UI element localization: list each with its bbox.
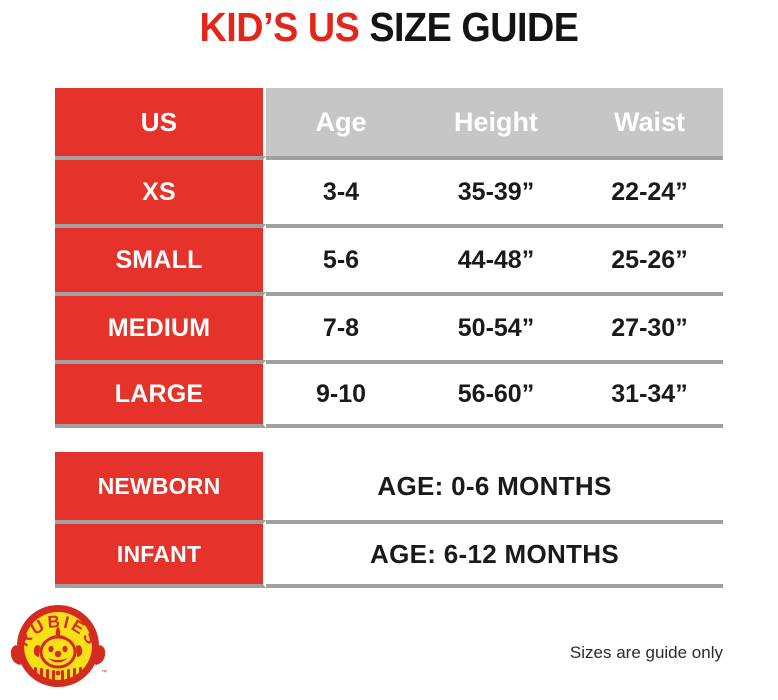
table-row: LARGE 9-10 56-60” 31-34” — [55, 360, 723, 428]
header-cell-waist: Waist — [576, 88, 723, 156]
row-height-value: 35-39” — [416, 156, 576, 224]
row-age-value: 3-4 — [266, 156, 416, 224]
row-height-value: 50-54” — [416, 292, 576, 360]
baby-size-table: NEWBORN AGE: 0-6 MONTHS INFANT AGE: 6-12… — [55, 452, 723, 588]
row-age-value: 9-10 — [266, 360, 416, 428]
row-size-label: LARGE — [55, 360, 266, 428]
row-size-label: INFANT — [55, 520, 266, 588]
logo-clown-nose — [55, 651, 61, 657]
footer-disclaimer: Sizes are guide only — [570, 643, 723, 663]
table-row: SMALL 5-6 44-48” 25-26” — [55, 224, 723, 292]
row-age-value: 7-8 — [266, 292, 416, 360]
header-cell-age: Age — [266, 88, 416, 156]
row-size-label: SMALL — [55, 224, 266, 292]
table-row: INFANT AGE: 6-12 MONTHS — [55, 520, 723, 588]
row-size-label: NEWBORN — [55, 452, 266, 520]
row-age-detail: AGE: 0-6 MONTHS — [266, 452, 723, 520]
logo-eye-left — [48, 646, 53, 652]
row-age-detail: AGE: 6-12 MONTHS — [266, 520, 723, 588]
table-row: MEDIUM 7-8 50-54” 27-30” — [55, 292, 723, 360]
header-cell-us: US — [55, 88, 266, 156]
page-title-rest: SIZE GUIDE — [369, 4, 578, 50]
size-guide-table: US Age Height Waist XS 3-4 35-39” 22-24”… — [55, 88, 723, 428]
row-waist-value: 27-30” — [576, 292, 723, 360]
header-cell-height: Height — [416, 88, 576, 156]
row-size-label: MEDIUM — [55, 292, 266, 360]
row-height-value: 56-60” — [416, 360, 576, 428]
table-header-row: US Age Height Waist — [55, 88, 723, 156]
page-title: KID’S US SIZE GUIDE — [31, 4, 747, 51]
page-title-highlight: KID’S US — [199, 4, 369, 50]
rubies-logo: RUBIES ™ — [8, 600, 108, 692]
row-waist-value: 25-26” — [576, 224, 723, 292]
row-waist-value: 31-34” — [576, 360, 723, 428]
table-row: NEWBORN AGE: 0-6 MONTHS — [55, 452, 723, 520]
row-height-value: 44-48” — [416, 224, 576, 292]
row-size-label: XS — [55, 156, 266, 224]
logo-eye-right — [62, 646, 67, 652]
table-row: XS 3-4 35-39” 22-24” — [55, 156, 723, 224]
row-waist-value: 22-24” — [576, 156, 723, 224]
row-age-value: 5-6 — [266, 224, 416, 292]
logo-trademark-symbol: ™ — [101, 669, 107, 676]
